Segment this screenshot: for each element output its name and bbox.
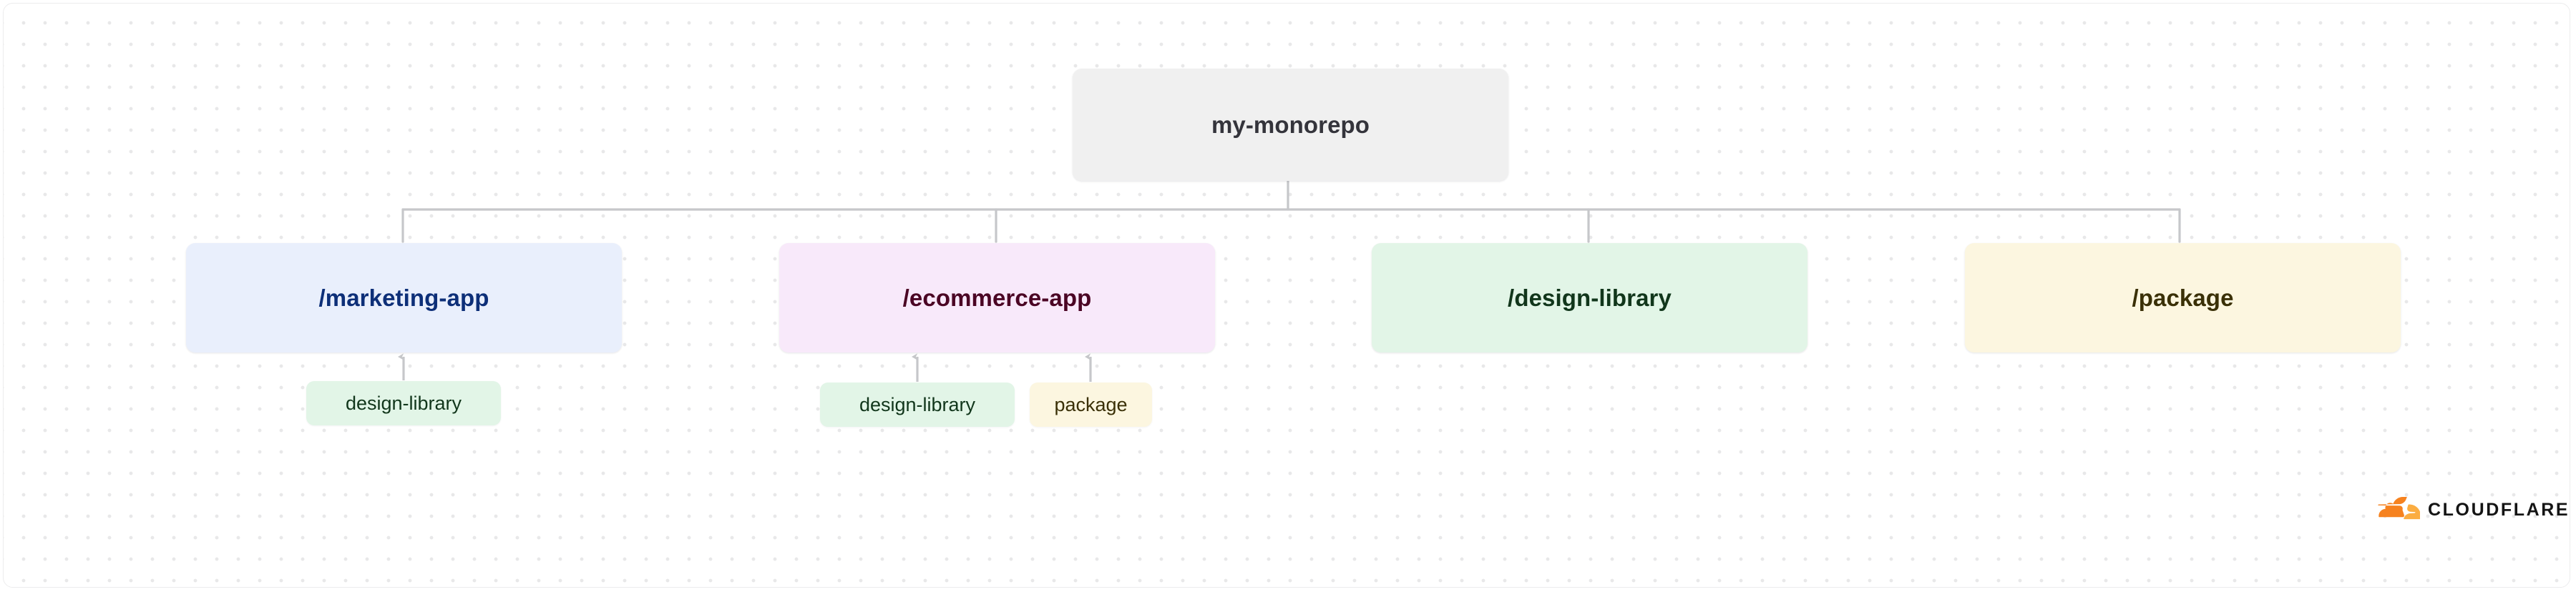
node-label: my-monorepo xyxy=(1211,112,1370,139)
node-label: /package xyxy=(2132,285,2233,312)
node-my-monorepo[interactable]: my-monorepo xyxy=(1073,69,1508,181)
node-ecommerce-app[interactable]: /ecommerce-app xyxy=(779,243,1215,352)
dependency-chip-ecommerce-design-library[interactable]: design-library xyxy=(820,383,1015,427)
dependency-chip-label: design-library xyxy=(859,394,975,416)
cloudflare-logo: CLOUDFLARE xyxy=(2368,497,2570,523)
dependency-chip-marketing-design-library[interactable]: design-library xyxy=(306,381,501,425)
node-label: /design-library xyxy=(1508,285,1672,312)
dependency-chip-label: package xyxy=(1054,394,1127,416)
node-marketing-app[interactable]: /marketing-app xyxy=(186,243,622,352)
cloudflare-wordmark: CLOUDFLARE xyxy=(2428,501,2570,519)
node-design-library[interactable]: /design-library xyxy=(1372,243,1807,352)
dependency-chip-ecommerce-package[interactable]: package xyxy=(1030,383,1152,427)
cloudflare-cloud-icon xyxy=(2368,497,2420,523)
dependency-chip-label: design-library xyxy=(346,393,462,415)
node-label: /marketing-app xyxy=(319,285,489,312)
node-label: /ecommerce-app xyxy=(903,285,1092,312)
node-package[interactable]: /package xyxy=(1965,243,2401,352)
diagram-canvas[interactable]: my-monorepo /marketing-app /ecommerce-ap… xyxy=(3,3,2570,588)
